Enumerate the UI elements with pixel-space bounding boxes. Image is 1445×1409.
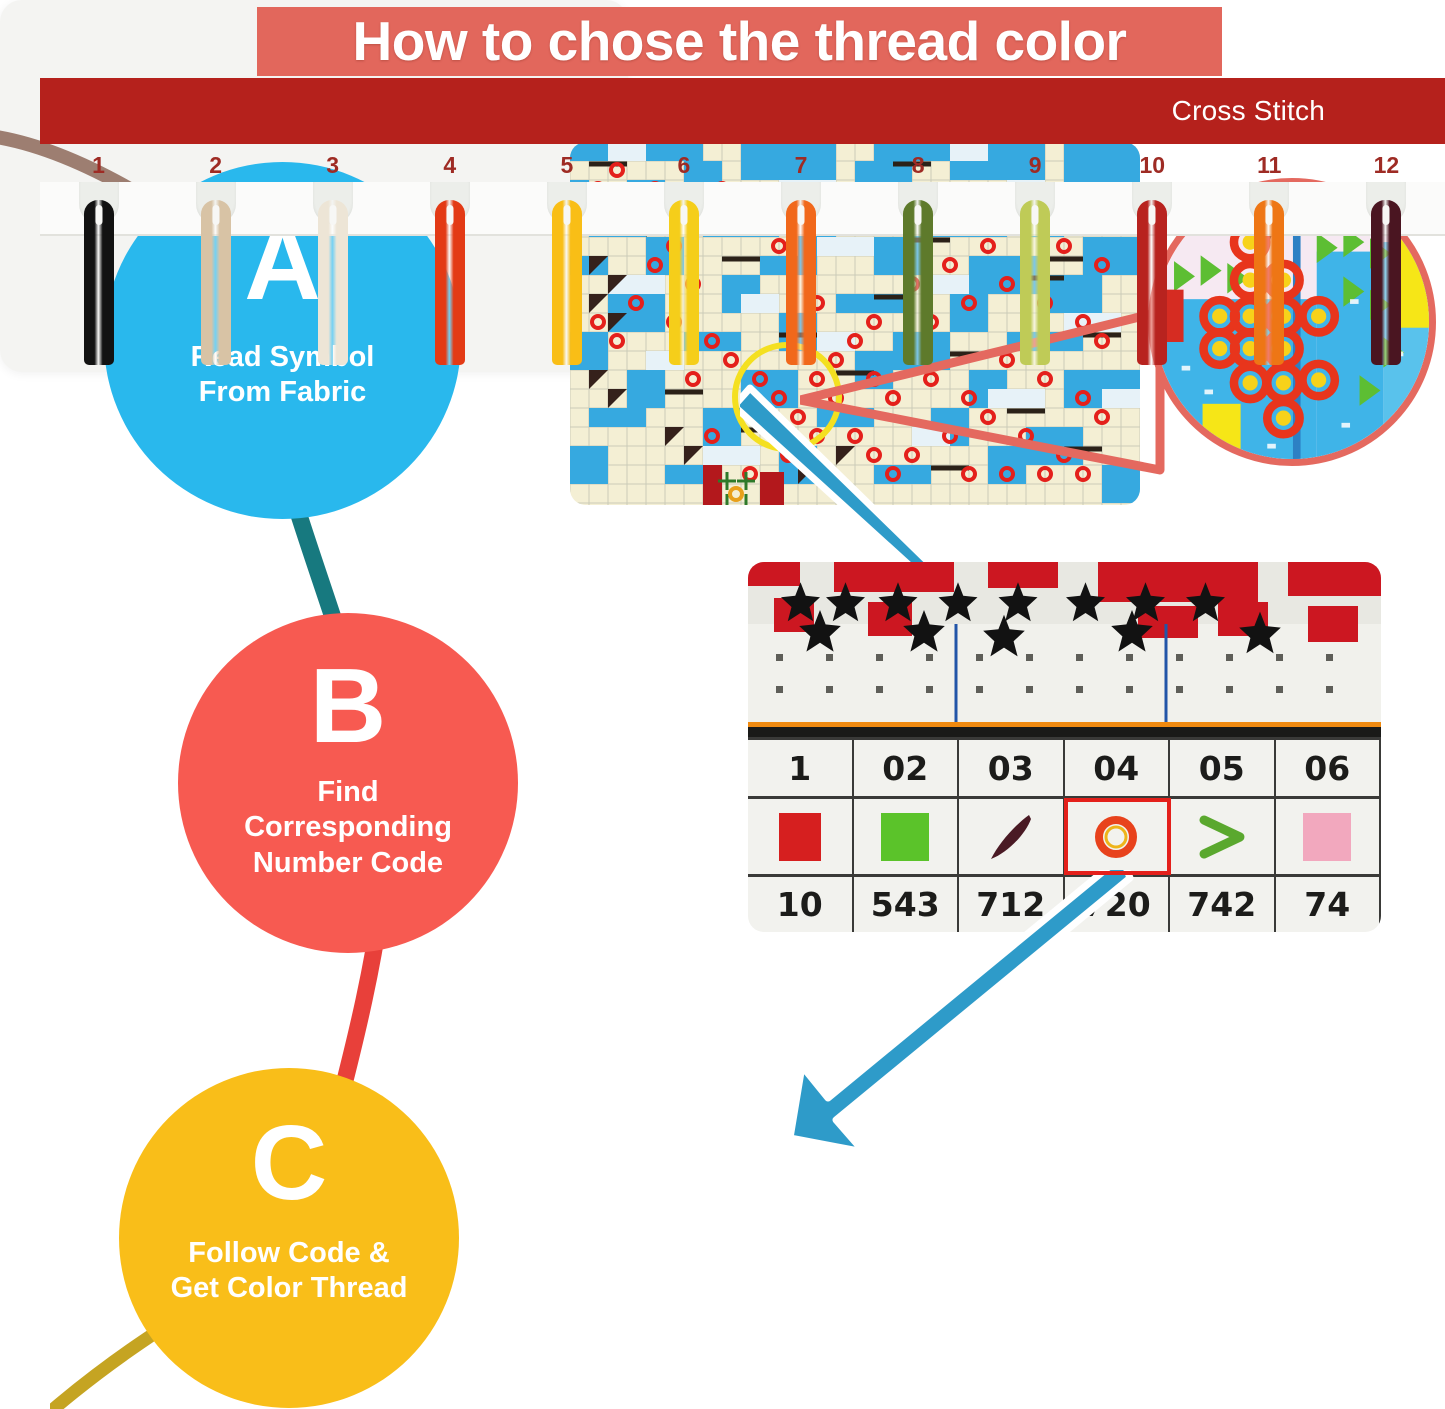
thread-skein <box>742 200 859 370</box>
legend-dmc-cell: 543 <box>854 877 960 932</box>
thread-number-row: 1 2 3 4 5 6 7 8 9 10 11 12 <box>40 152 1445 182</box>
thread-number: 5 <box>508 152 625 182</box>
infographic-canvas: How to chose the thread color A Read Sym… <box>0 0 1445 1409</box>
legend-symbol-cell-leaf <box>959 799 1065 874</box>
thread-number: 11 <box>1211 152 1328 182</box>
legend-code-cell: 02 <box>854 740 960 796</box>
thread-skein <box>1211 200 1328 370</box>
thread-skein <box>977 200 1094 370</box>
legend-symbol-cell-block-green <box>854 799 960 874</box>
thread-skein <box>391 200 508 370</box>
thread-number: 12 <box>1328 152 1445 182</box>
legend-code-cell: 06 <box>1276 740 1382 796</box>
legend-code-cell: 05 <box>1170 740 1276 796</box>
legend-code-cell: 1 <box>748 740 854 796</box>
legend-code-cell: 04 <box>1065 740 1171 796</box>
thread-card-banner: Cross Stitch <box>40 78 1445 144</box>
thread-skein <box>1094 200 1211 370</box>
legend-code-cell: 03 <box>959 740 1065 796</box>
thread-skein <box>40 200 157 370</box>
legend-top-stitch-pattern <box>748 562 1381 737</box>
thread-skein <box>508 200 625 370</box>
step-b-label: Find Corresponding Number Code <box>228 775 468 881</box>
thread-skein <box>274 200 391 370</box>
legend-dmc-cell: 742 <box>1170 877 1276 932</box>
title-banner: How to chose the thread color <box>258 8 1221 75</box>
thread-card-label: Cross Stitch <box>1172 95 1325 127</box>
thread-number: 2 <box>157 152 274 182</box>
thread-skein-row <box>40 200 1445 370</box>
thread-number: 6 <box>625 152 742 182</box>
legend-symbol-cell-block-pink <box>1276 799 1382 874</box>
legend-dmc-cell: 10 <box>748 877 854 932</box>
thread-skein <box>1328 200 1445 370</box>
step-c-label: Follow Code & Get Color Thread <box>155 1236 424 1307</box>
thread-number: 9 <box>977 152 1094 182</box>
legend-photo-panel: 1 02 03 04 05 06 <box>748 562 1381 932</box>
legend-dmc-row: 10 543 712 720 742 74 <box>748 877 1381 932</box>
legend-dmc-cell: 74 <box>1276 877 1382 932</box>
legend-symbol-cell-chevron <box>1170 799 1276 874</box>
legend-table: 1 02 03 04 05 06 <box>748 737 1381 932</box>
step-c-letter: C <box>251 1110 328 1216</box>
thread-number: 3 <box>274 152 391 182</box>
legend-symbol-row <box>748 799 1381 877</box>
legend-dmc-cell: 712 <box>959 877 1065 932</box>
thread-number: 4 <box>391 152 508 182</box>
step-circle-b[interactable]: B Find Corresponding Number Code <box>178 613 518 953</box>
thread-number: 10 <box>1094 152 1211 182</box>
step-circle-c[interactable]: C Follow Code & Get Color Thread <box>119 1068 459 1408</box>
legend-code-row: 1 02 03 04 05 06 <box>748 737 1381 799</box>
thread-number: 8 <box>860 152 977 182</box>
legend-dmc-cell: 720 <box>1065 877 1171 932</box>
thread-number: 1 <box>40 152 157 182</box>
thread-skein <box>625 200 742 370</box>
thread-number: 7 <box>742 152 859 182</box>
step-b-letter: B <box>310 653 387 759</box>
thread-skein <box>860 200 977 370</box>
legend-symbol-cell-circle-highlighted <box>1065 799 1171 874</box>
legend-symbol-cell-block-red <box>748 799 854 874</box>
page-title: How to chose the thread color <box>353 14 1127 69</box>
thread-skein <box>157 200 274 370</box>
